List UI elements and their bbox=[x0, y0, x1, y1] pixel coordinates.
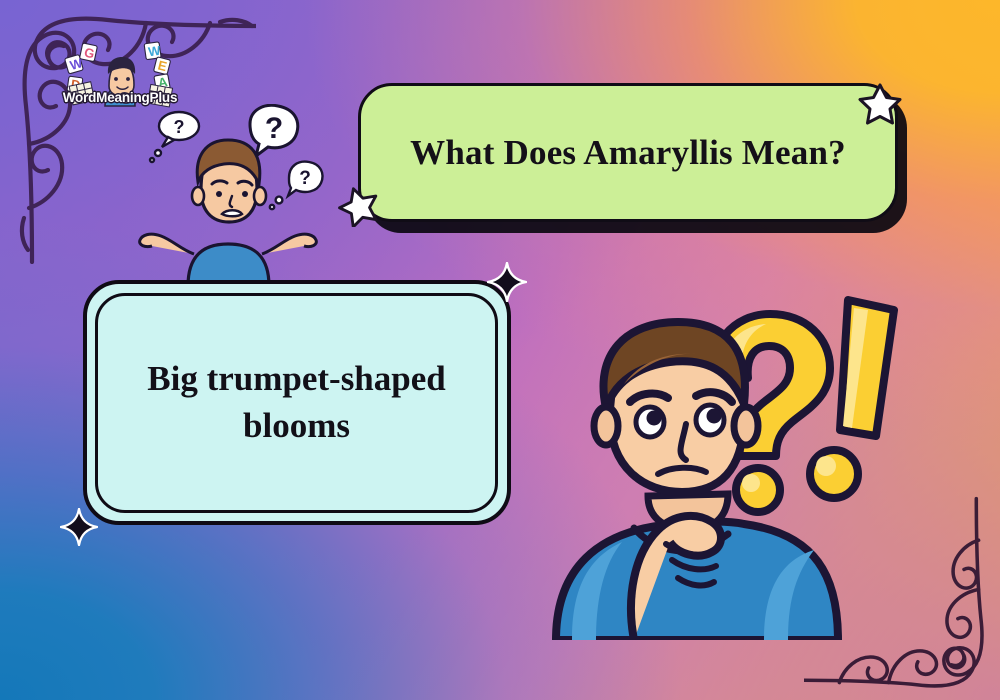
star-bottom-left-icon bbox=[338, 185, 380, 227]
question-bubble-text-2: ? bbox=[174, 117, 185, 137]
thinking-man-illustration bbox=[538, 258, 930, 640]
page-title: What Does Amaryllis Mean? bbox=[358, 83, 898, 222]
meaning-card-inner-frame: Big trumpet-shaped blooms bbox=[95, 293, 498, 513]
brand-logo-text: WordMeaningPlus bbox=[63, 90, 178, 105]
sparkle-bottom-left-icon bbox=[60, 508, 98, 546]
title-card: What Does Amaryllis Mean? bbox=[358, 83, 898, 222]
sparkle-top-right-icon bbox=[487, 262, 527, 302]
star-top-right-icon bbox=[858, 82, 902, 126]
confused-shrugging-man-illustration: ? ? ? bbox=[128, 104, 333, 286]
poster-canvas: W G W E A D bbox=[0, 0, 1000, 700]
meaning-text: Big trumpet-shaped blooms bbox=[98, 296, 495, 510]
meaning-card: Big trumpet-shaped blooms bbox=[83, 280, 511, 525]
question-bubble-text-3: ? bbox=[299, 168, 311, 189]
question-bubble-text-1: ? bbox=[265, 112, 283, 145]
